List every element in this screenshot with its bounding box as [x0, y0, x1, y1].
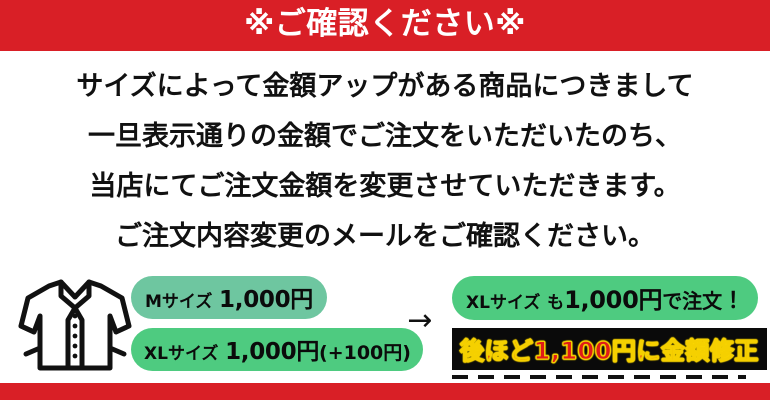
dashed-underline	[452, 375, 746, 379]
notice-line-2: 一旦表示通りの金額でご注文をいただいたのち、	[0, 112, 770, 162]
page-title: ※ご確認ください※	[0, 0, 770, 51]
notice-line-4: ご注文内容変更のメールをご確認ください。	[0, 212, 770, 262]
after-price-group: XLサイズ も1,000円で注文！ 後ほど1,100円に金額修正	[452, 276, 758, 379]
badge-order-price: 1,000円	[564, 286, 662, 314]
badge-size-m: Mサイズ 1,000円	[131, 276, 327, 319]
badge-size-m-label: Mサイズ	[145, 292, 212, 312]
price-correction-note: 後ほど1,100円に金額修正	[452, 328, 767, 370]
footer-bar	[0, 383, 770, 400]
badge-size-xl-label: XLサイズ	[144, 344, 218, 364]
notice-banner: ※ご確認ください※ サイズによって金額アップがある商品につきまして 一旦表示通り…	[0, 0, 770, 400]
badge-order-particle: も	[547, 293, 564, 313]
badge-size-xl-extra: (+100円)	[319, 342, 411, 364]
shirt-icon	[16, 270, 134, 374]
notice-line-3: 当店にてご注文金額を変更させていただきます。	[0, 162, 770, 212]
notice-body: サイズによって金額アップがある商品につきまして 一旦表示通りの金額でご注文をいた…	[0, 62, 770, 262]
notice-line-1: サイズによって金額アップがある商品につきまして	[0, 62, 770, 112]
badge-order-size-label: XLサイズ	[466, 293, 540, 313]
price-correction-text: 後ほど1,100円に金額修正	[460, 337, 759, 365]
badge-order-xl: XLサイズ も1,000円で注文！	[452, 276, 758, 320]
badge-size-xl: XLサイズ 1,000円(+100円)	[131, 328, 423, 371]
badge-size-m-price: 1,000円	[219, 287, 313, 313]
badge-size-xl-price: 1,000円	[225, 339, 319, 365]
badge-order-exclamation: ！	[722, 289, 744, 314]
price-comparison: Mサイズ 1,000円 XLサイズ 1,000円(+100円) → XLサイズ …	[0, 268, 770, 380]
arrow-right-icon: →	[398, 306, 442, 336]
badge-order-tail: で注文	[662, 289, 722, 313]
before-price-group: Mサイズ 1,000円 XLサイズ 1,000円(+100円)	[131, 276, 387, 371]
